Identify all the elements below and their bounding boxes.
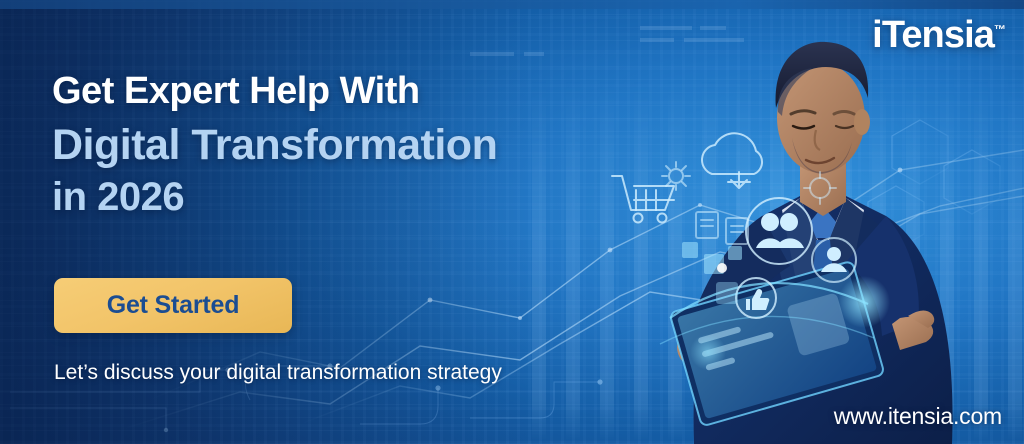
user-profile-icon [812, 238, 856, 282]
tagline: Let’s discuss your digital transformatio… [54, 361, 502, 385]
gear-icon [662, 162, 690, 190]
document-icon [696, 212, 748, 244]
holographic-icon-cluster [598, 130, 878, 360]
banner-copy: Get Expert Help With Digital Transformat… [52, 0, 612, 444]
website-url[interactable]: www.itensia.com [834, 403, 1002, 430]
headline-line-3: in 2026 [52, 172, 612, 222]
users-group-icon [746, 198, 812, 264]
network-node-icon [804, 172, 836, 204]
headline-line-1: Get Expert Help With [52, 68, 612, 114]
shopping-cart-icon [612, 176, 674, 223]
trademark-symbol: ™ [994, 22, 1006, 36]
headline: Get Expert Help With Digital Transformat… [52, 68, 612, 222]
headline-line-2: Digital Transformation [52, 118, 612, 172]
brand-logo[interactable]: iTensia™ [872, 16, 1006, 54]
get-started-button[interactable]: Get Started [54, 278, 292, 333]
thumbs-up-icon [736, 278, 776, 318]
promo-banner: Get Expert Help With Digital Transformat… [0, 0, 1024, 444]
brand-name: iTensia [872, 14, 994, 56]
cloud-download-icon [702, 133, 762, 188]
